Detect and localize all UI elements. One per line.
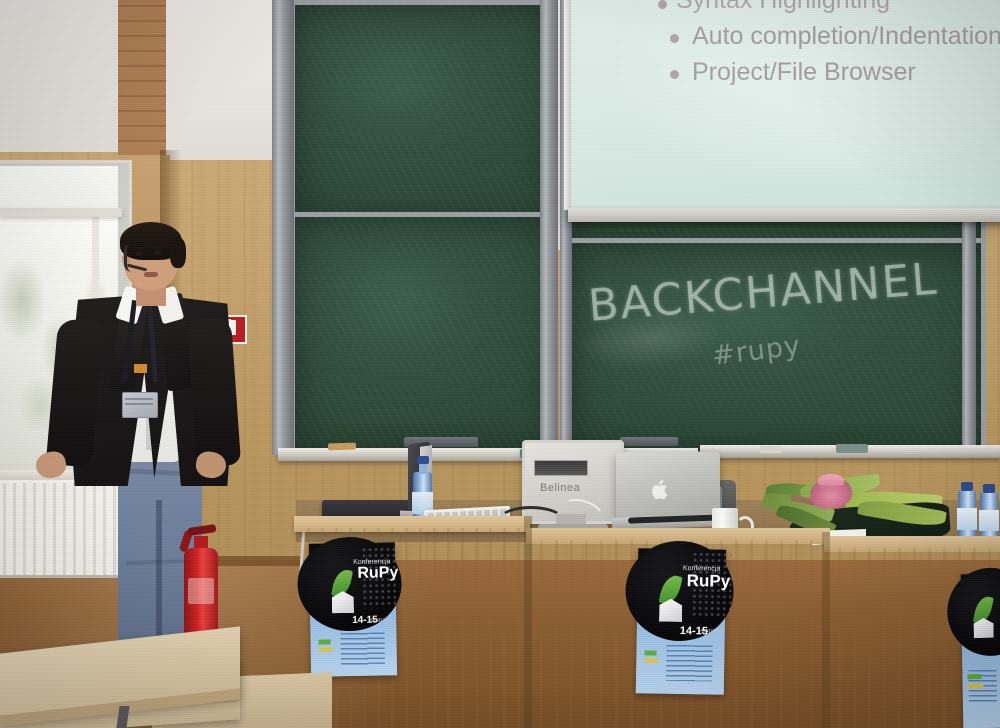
- monitor-brand-label: Belinea: [540, 482, 584, 495]
- lanyard-clip: [134, 364, 147, 373]
- poster-sponsor-badge: [968, 684, 984, 688]
- poster-sponsor-badge: [319, 639, 331, 644]
- rupy-poster[interactable]: Konferencja RuPy 14-15 listopada: [636, 548, 727, 695]
- slide-bullet-icon: [658, 0, 667, 9]
- poster-sponsor-badge: [644, 650, 656, 655]
- badge-text-lines: [125, 398, 153, 408]
- poster-program-lines: [666, 645, 713, 682]
- projection-screen-bottom-bar: [568, 208, 1000, 222]
- screen-left-edge: [564, 0, 571, 210]
- slide-line-1: Syntax Highlighting: [676, 0, 890, 15]
- poster-sponsor-badge: [967, 674, 981, 679]
- slide-line-2: Auto completion/Indentation: [692, 22, 1000, 51]
- slide-bullet-icon: [670, 34, 679, 43]
- poster-program-lines: [340, 632, 385, 665]
- macbook-pro[interactable]: [616, 452, 720, 520]
- slide-line-3: Project/File Browser: [692, 58, 916, 87]
- chalkboard-panel-upper-left: [290, 0, 558, 228]
- rupy-poster[interactable]: [961, 574, 1000, 728]
- apple-logo-icon: [650, 480, 668, 500]
- presenter-eyebrow-right: [152, 246, 162, 249]
- presenter-eye-right: [154, 251, 161, 255]
- protea-flower-crown: [818, 474, 844, 486]
- lecture-hall-photo: BACKCHANNEL #rupy Syntax Highlighting Au…: [0, 0, 1000, 728]
- desk-divider: [524, 516, 532, 728]
- board-eraser[interactable]: [836, 444, 868, 453]
- window-mullion: [0, 208, 122, 217]
- chalk-piece[interactable]: [760, 446, 782, 453]
- poster-brand-title: RuPy: [687, 571, 731, 592]
- window-upper-pane: [0, 166, 118, 210]
- jeans-seam: [156, 500, 162, 654]
- rupy-poster[interactable]: Konferencja RuPy 14-15 listopada: [309, 542, 397, 676]
- water-bottle-label: [957, 508, 977, 530]
- ceiling-strip: [0, 0, 122, 152]
- poster-sponsor-badge: [644, 658, 658, 662]
- chalkboard-panel-lower-left: [290, 212, 558, 454]
- water-bottle-cap[interactable]: [417, 456, 429, 464]
- chalkboard-rail-middle[interactable]: [540, 0, 558, 455]
- presenter-hair-side: [170, 238, 186, 268]
- presenter-mouth: [144, 272, 158, 277]
- poster-month: listopada: [698, 628, 722, 634]
- poster-brand-title: RuPy: [357, 564, 398, 583]
- chalk-piece[interactable]: [328, 443, 356, 451]
- radiator: [0, 480, 118, 578]
- fire-extinguisher-label: [188, 578, 214, 604]
- monitor-vent: [534, 460, 588, 476]
- slide-bullet-icon: [670, 70, 679, 79]
- eraser-tray-right: [620, 437, 678, 446]
- water-bottle-cap[interactable]: [983, 484, 995, 493]
- poster-sponsor-badge: [319, 647, 333, 651]
- poster-month: listopada: [368, 617, 392, 623]
- water-bottle-label: [979, 510, 999, 531]
- desk-divider: [822, 532, 830, 728]
- water-bottle-cap[interactable]: [961, 482, 973, 491]
- chalkboard-rail-left[interactable]: [272, 0, 294, 455]
